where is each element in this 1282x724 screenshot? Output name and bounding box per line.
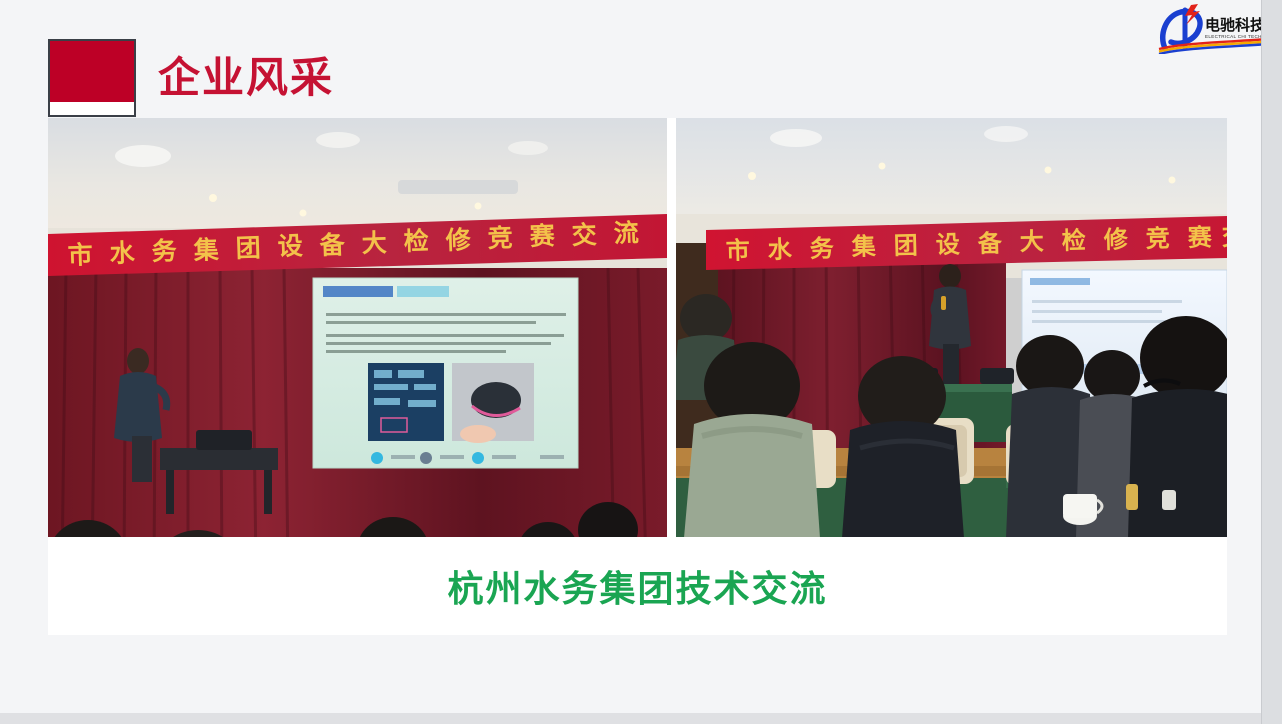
gallery-caption-text: 杭州水务集团技术交流	[447, 560, 827, 612]
page-header: 企业风采	[48, 38, 334, 118]
svg-text:交: 交	[1221, 222, 1227, 251]
svg-text:备: 备	[976, 229, 1003, 258]
svg-text:集: 集	[850, 232, 877, 261]
svg-text:市: 市	[67, 240, 93, 270]
svg-text:赛: 赛	[1186, 223, 1213, 252]
content-card: 市 水 务 集 团 设 备 大 检 修 竞 赛 交 流	[48, 118, 1227, 635]
vertical-scrollbar-thumb[interactable]	[1263, 0, 1282, 724]
svg-text:设: 设	[277, 231, 303, 261]
gallery-photo-1[interactable]: 市 水 务 集 团 设 备 大 检 修 竞 赛 交	[676, 118, 1227, 537]
svg-text:设: 设	[935, 230, 960, 259]
svg-text:赛: 赛	[528, 221, 556, 251]
header-accent-badge-fill	[50, 41, 134, 102]
logo-chinese-text: 电驰科技	[1205, 16, 1266, 34]
svg-text:交: 交	[571, 220, 597, 250]
svg-text:流: 流	[613, 218, 639, 248]
svg-text:竞: 竞	[1145, 224, 1170, 253]
photo-gallery: 市 水 务 集 团 设 备 大 检 修 竞 赛 交 流	[48, 118, 1227, 537]
page-bottom-strip	[0, 713, 1261, 724]
svg-text:市: 市	[725, 236, 750, 265]
svg-text:务: 务	[151, 236, 177, 266]
svg-text:修: 修	[444, 225, 472, 255]
svg-text:集: 集	[192, 235, 220, 265]
svg-text:务: 务	[809, 234, 835, 263]
svg-text:水: 水	[767, 235, 793, 264]
svg-text:检: 检	[1061, 226, 1086, 255]
gallery-caption: 杭州水务集团技术交流	[48, 537, 1227, 635]
svg-text:水: 水	[109, 238, 136, 268]
page-root: 电驰科技 TM ELECTRICAL CHI TECHNOLOGY 企业风采	[0, 0, 1282, 724]
svg-text:团: 团	[235, 233, 261, 263]
photo-audience-image: 市 水 务 集 团 设 备 大 检 修 竞 赛 交	[676, 118, 1227, 537]
photo-presentation-wide-image: 市 水 务 集 团 设 备 大 检 修 竞 赛 交 流	[48, 118, 667, 537]
header-accent-badge	[48, 39, 136, 117]
svg-text:检: 检	[403, 226, 429, 256]
vertical-scrollbar[interactable]	[1261, 0, 1282, 724]
svg-text:竞: 竞	[487, 223, 513, 253]
svg-text:大: 大	[1019, 227, 1044, 256]
svg-text:备: 备	[318, 230, 346, 260]
gallery-photo-0[interactable]: 市 水 务 集 团 设 备 大 检 修 竞 赛 交 流	[48, 118, 667, 537]
svg-text:修: 修	[1102, 225, 1129, 254]
svg-text:团: 团	[893, 231, 918, 260]
brand-logo[interactable]: 电驰科技 TM ELECTRICAL CHI TECHNOLOGY	[1155, 2, 1277, 54]
svg-text:大: 大	[361, 228, 387, 258]
page-title: 企业风采	[158, 57, 334, 99]
